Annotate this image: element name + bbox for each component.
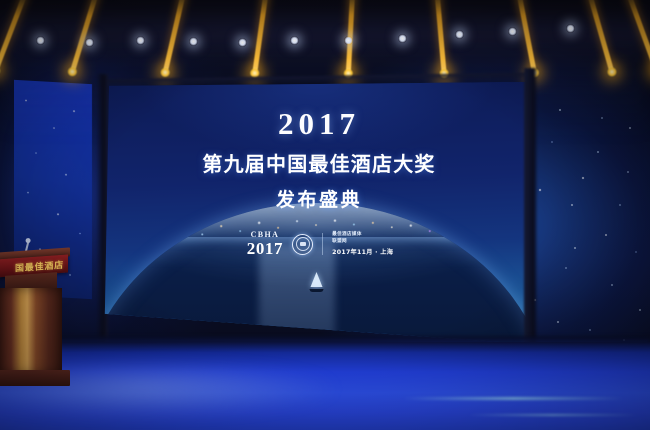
spot-light-11 xyxy=(566,24,575,33)
podium-body xyxy=(0,288,62,374)
spot-light-10 xyxy=(508,27,517,36)
spot-light-8 xyxy=(398,34,407,43)
event-title-line1: 第九届中国最佳酒店大奖 xyxy=(202,148,435,177)
circular-seal-icon xyxy=(292,234,313,255)
spot-light-9 xyxy=(455,30,464,39)
logo-divider xyxy=(322,233,323,255)
logo-date-venue: 2017年11月 · 上海 xyxy=(332,247,393,256)
seal-core xyxy=(300,242,306,246)
podium-banner-text: 国最佳酒店 xyxy=(15,257,68,274)
cbha-wordmark: CBHA 2017 xyxy=(247,231,283,257)
spot-light-5 xyxy=(238,38,247,47)
spot-light-6 xyxy=(290,36,299,45)
led-screen: 2017 第九届中国最佳酒店大奖 发布盛典 CBHA 2017 最佳酒店媒体 联… xyxy=(104,82,528,344)
spot-light-2 xyxy=(85,38,94,47)
cbha-abbrev: CBHA xyxy=(251,231,280,239)
event-title-line2: 发布盛典 xyxy=(276,185,362,212)
cbha-year: 2017 xyxy=(247,240,283,257)
podium: 国最佳酒店 xyxy=(0,250,76,392)
headline-year: 2017 xyxy=(278,108,360,139)
screen-content: 2017 第九届中国最佳酒店大奖 发布盛典 CBHA 2017 最佳酒店媒体 联… xyxy=(104,82,528,344)
spot-light-1 xyxy=(36,36,45,45)
stage-scene: 2017 第九届中国最佳酒店大奖 发布盛典 CBHA 2017 最佳酒店媒体 联… xyxy=(0,0,650,430)
spot-light-7 xyxy=(344,36,353,45)
seal-inner-ring xyxy=(296,237,310,251)
floor-light-streak-1 xyxy=(403,397,624,400)
floor-light-streak-2 xyxy=(468,414,637,417)
logo-info-line1: 最佳酒店媒体 xyxy=(332,232,393,238)
logo-info-text: 最佳酒店媒体 联盟网 2017年11月 · 上海 xyxy=(332,232,393,256)
podium-base xyxy=(0,370,70,386)
stage-floor xyxy=(0,342,650,430)
spot-light-4 xyxy=(189,37,198,46)
cbha-logo-lockup: CBHA 2017 最佳酒店媒体 联盟网 2017年11月 · 上海 xyxy=(247,231,394,257)
screen-frame-right xyxy=(524,68,538,354)
logo-info-line2: 联盟网 xyxy=(332,239,393,245)
spot-light-3 xyxy=(136,36,145,45)
